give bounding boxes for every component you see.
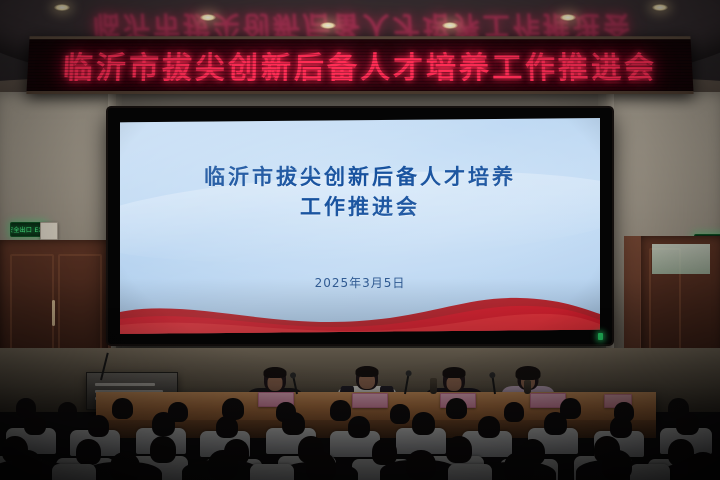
- door-window: [652, 244, 710, 274]
- ceiling-downlight: [652, 4, 668, 11]
- attendee-head: [544, 412, 567, 435]
- attendee-head: [282, 412, 305, 435]
- attendee-head: [208, 450, 238, 480]
- attendee-head: [88, 415, 109, 437]
- slide-wave-decoration: [120, 292, 600, 334]
- attendee-head: [216, 416, 238, 438]
- projection-screen: 临沂市拔尖创新后备人才培养 工作推进会 2025年3月5日: [108, 108, 612, 344]
- attendee-head: [110, 452, 140, 480]
- attendee-head: [150, 436, 176, 463]
- door-handle[interactable]: [52, 300, 55, 326]
- panelist-hair: [443, 367, 466, 378]
- panelist-hair: [516, 366, 541, 380]
- attendee-head: [446, 436, 472, 463]
- attendee-head: [446, 398, 467, 419]
- ceiling-downlight: [200, 14, 216, 21]
- water-bottle: [430, 378, 437, 394]
- attendee-head: [12, 450, 42, 480]
- led-banner-text: 临沂市拔尖创新后备人才培养工作推进会: [62, 43, 658, 87]
- attendee-head: [24, 412, 46, 435]
- attendee-head: [412, 412, 435, 435]
- led-banner: 临沂市拔尖创新后备人才培养工作推进会: [26, 36, 693, 94]
- attendee-head: [76, 439, 101, 465]
- attendee-head: [478, 416, 500, 438]
- panelist-face: [447, 376, 462, 391]
- attendee-head: [306, 452, 336, 480]
- ceiling-downlight: [560, 14, 576, 21]
- chair: [52, 464, 96, 480]
- attendee-head: [602, 450, 632, 480]
- chair: [250, 464, 294, 480]
- slide-title-line-1: 临沂市拔尖创新后备人才培养: [120, 162, 600, 192]
- attendee-head: [112, 398, 133, 419]
- ceiling-downlight: [320, 22, 336, 29]
- slide-title: 临沂市拔尖创新后备人才培养 工作推进会: [120, 162, 600, 222]
- audience-area: [0, 396, 720, 480]
- slide-glare: [120, 118, 600, 334]
- panelist-hair: [264, 367, 287, 378]
- attendee-head: [406, 450, 436, 480]
- attendee-head: [504, 402, 524, 422]
- conference-hall-photo: 临沂市拔尖创新后备人才培养工作推进会 安全出口 EXIT 安全出口 EXIT: [0, 0, 720, 480]
- led-banner-surface: 临沂市拔尖创新后备人才培养工作推进会: [27, 39, 694, 91]
- water-bottle: [524, 380, 531, 394]
- attendee-head: [610, 416, 632, 438]
- attendee-head: [676, 412, 699, 435]
- av-console-slot: [95, 383, 155, 386]
- ceiling-downlight: [442, 22, 458, 29]
- attendee-head: [152, 412, 175, 436]
- slide-title-line-2: 工作推进会: [120, 192, 600, 222]
- chair: [448, 464, 492, 480]
- attendee-head: [330, 400, 351, 421]
- attendee-head: [390, 404, 410, 424]
- screen-power-led-icon: [598, 333, 603, 340]
- chair: [630, 464, 670, 480]
- slide-surface: 临沂市拔尖创新后备人才培养 工作推进会 2025年3月5日: [120, 118, 600, 334]
- ceiling-downlight: [54, 4, 70, 11]
- attendee-head: [58, 402, 77, 421]
- panelist-hair: [356, 366, 379, 377]
- attendee-head: [348, 416, 370, 438]
- attendee-head: [504, 452, 534, 480]
- wall-control-box[interactable]: [40, 222, 58, 240]
- attendee-head: [688, 452, 718, 480]
- slide-date: 2025年3月5日: [120, 274, 600, 291]
